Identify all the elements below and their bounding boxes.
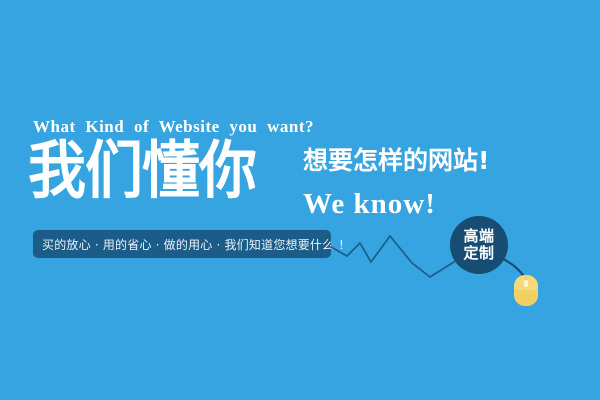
hero-headline: 我们懂你 [28, 139, 256, 202]
quality-badge[interactable]: 高端 定制 [450, 216, 508, 274]
slogan-pill-text: 买的放心 · 用的省心 · 做的用心 · 我们知道您想要什么 ！ [42, 236, 351, 253]
promo-banner-canvas: What Kind of Website you want? 我们懂你 想要怎样… [0, 0, 600, 400]
computer-mouse-icon [513, 274, 539, 307]
quality-badge-line-1: 高端 [463, 228, 494, 245]
hero-sub-headline-cjk: 想要怎样的网站! [303, 148, 489, 173]
quality-badge-line-2: 定制 [463, 245, 494, 262]
slogan-pill: 买的放心 · 用的省心 · 做的用心 · 我们知道您想要什么 ！ [33, 230, 331, 258]
hero-sub-headline-en: We know! [303, 189, 436, 219]
